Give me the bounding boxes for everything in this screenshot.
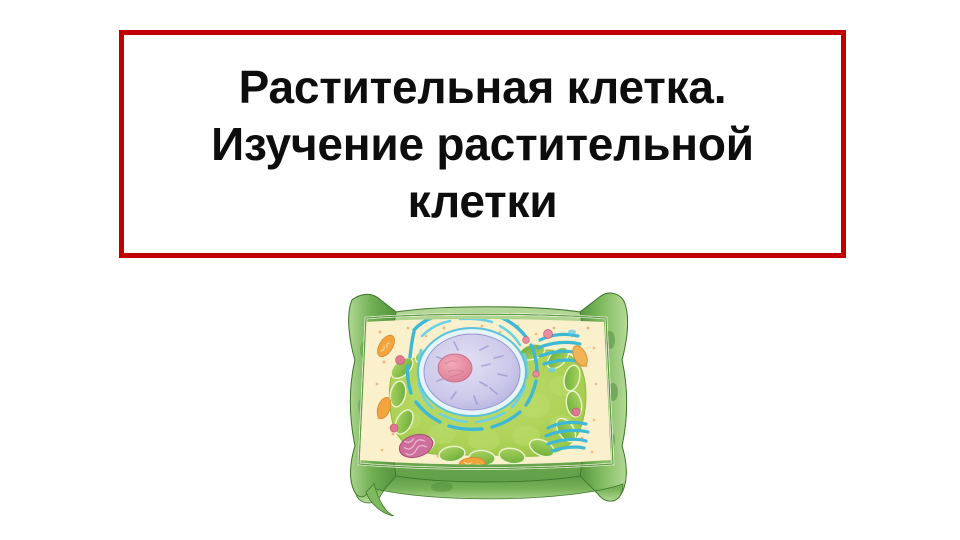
granule (396, 356, 405, 365)
granule (572, 408, 580, 416)
granule (533, 371, 539, 377)
granule (390, 424, 398, 432)
cytoplasm (352, 310, 622, 474)
granule (523, 337, 530, 344)
title-box: Растительная клетка. Изучение растительн… (119, 30, 846, 258)
plant-cell-image (322, 288, 648, 516)
page-title: Растительная клетка. Изучение растительн… (124, 59, 841, 230)
plant-cell-diagram (322, 288, 648, 516)
nucleolus (438, 354, 472, 382)
slide-canvas: Растительная клетка. Изучение растительн… (0, 0, 960, 540)
plasmodesma-pit (431, 482, 453, 492)
granule (544, 330, 553, 339)
